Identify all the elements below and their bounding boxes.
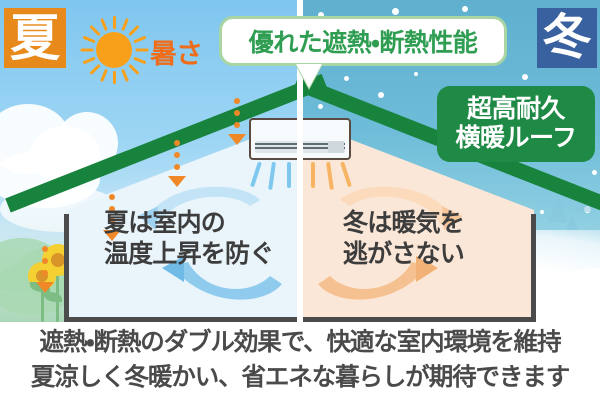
sun-icon [78,14,150,86]
winter-caption-line1: 冬は暖気を [343,208,464,239]
snowflake-icon [378,92,384,98]
bubble-tail [296,64,322,88]
sun-disc [96,32,132,68]
cool-air-stream [287,162,291,188]
heat-label: 暑さ [150,32,202,71]
snowflake-icon [414,72,418,76]
performance-callout-text: 優れた遮熱・断熱性能 [249,23,478,59]
infographic-root: 夏は室内の 温度上昇を防ぐ 冬は暖気を 逃がさない 暑さ 優れた遮熱・断熱性能 … [0,0,600,400]
snowflake-icon [522,74,528,80]
bottom-caption-line2: 夏涼しく冬暖かい、省エネな暮らしが期待できます [31,361,569,396]
house-wall-left [64,214,69,322]
bottom-caption-line1: 遮熱・断熱のダブル効果で、快適な室内環境を維持 [39,326,560,361]
snowflake-icon [344,76,349,81]
snowflake-icon [540,210,544,214]
house-wall-right [531,214,536,322]
arrow-up-icon [50,128,80,202]
snowflake-icon [318,104,323,109]
product-name-badge: 超高耐久 横暖ルーフ [437,86,595,162]
illustration-scene: 夏は室内の 温度上昇を防ぐ 冬は暖気を 逃がさない 暑さ 優れた遮熱・断熱性能 … [0,0,600,322]
arrow-up-icon [120,86,150,160]
season-badge-winter: 冬 [537,8,597,68]
summer-caption-line2: 温度上昇を防ぐ [104,239,273,270]
snowflake-icon [592,170,597,175]
product-name-line2: 横暖ルーフ [455,124,576,154]
summer-caption-line1: 夏は室内の [104,208,273,239]
season-badge-summer: 夏 [4,8,66,68]
snowflake-icon [392,8,399,15]
product-name-line1: 超高耐久 [467,95,565,125]
arrow-down-icon [150,96,180,170]
bottom-caption: 遮熱・断熱のダブル効果で、快適な室内環境を維持 夏涼しく冬暖かい、省エネな暮らし… [0,322,600,400]
ac-vent-chip [328,141,344,153]
snowflake-icon [462,6,468,12]
warm-air-stream [311,162,315,188]
summer-caption: 夏は室内の 温度上昇を防ぐ [104,208,273,270]
arrow-down-icon [80,140,110,214]
winter-caption: 冬は暖気を 逃がさない [343,208,464,270]
winter-caption-line2: 逃がさない [343,239,464,270]
performance-callout-bubble: 優れた遮熱・断熱性能 [219,16,507,66]
